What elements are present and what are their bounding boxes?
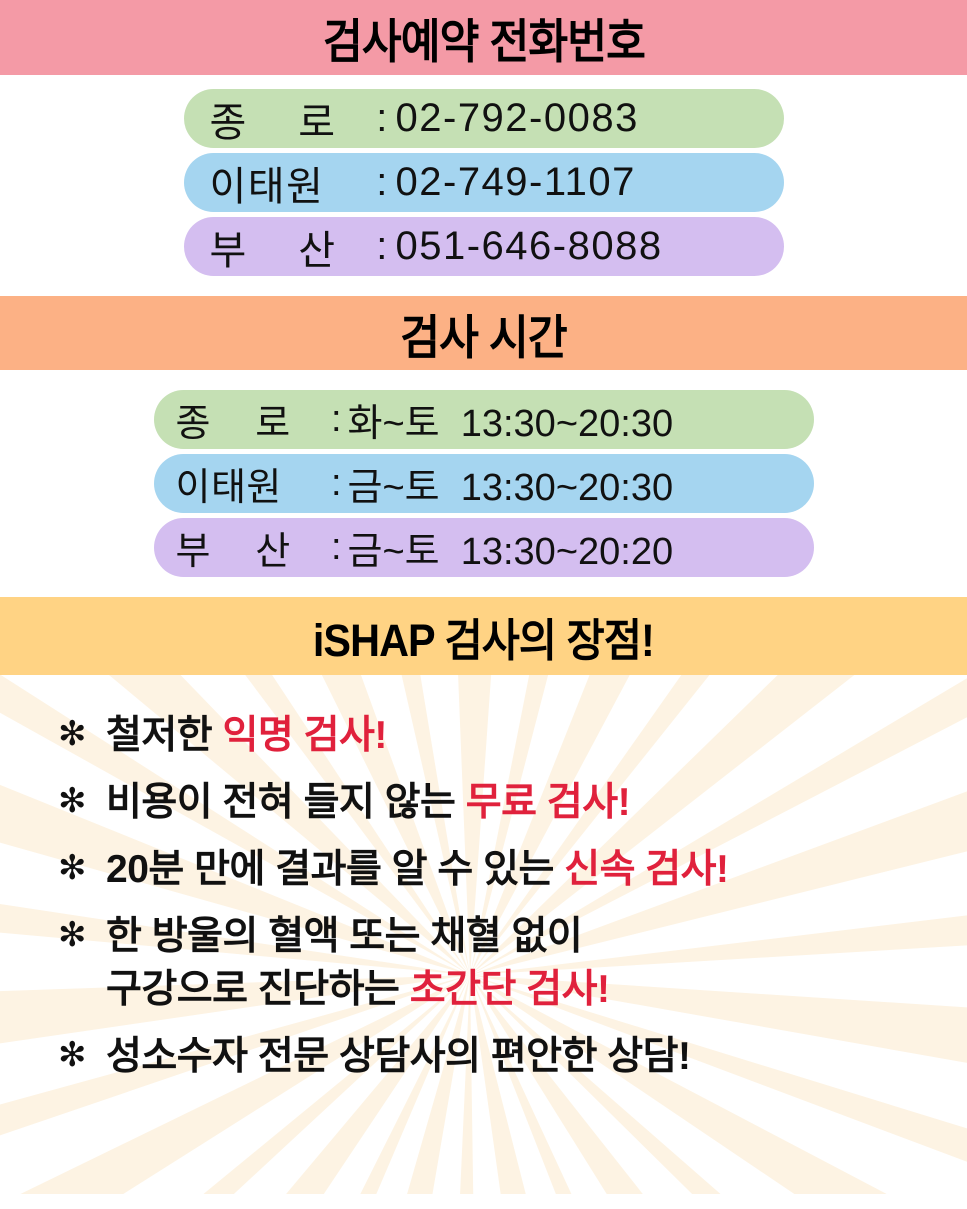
benefit-item-oral-swab: ✻ 한 방울의 혈액 또는 채혈 없이구강으로 진단하는 초간단 검사! bbox=[58, 910, 967, 1016]
benefits-area: ✻ 철저한 익명 검사! ✻ 비용이 전혀 들지 않는 무료 검사! ✻ 20분… bbox=[0, 675, 967, 1194]
time-row-separator: : bbox=[326, 398, 348, 441]
phone-header-title: 검사예약 전화번호 bbox=[322, 3, 644, 72]
poster-root: 검사예약 전화번호 종 로 : 02-792-0083 이태원 : 02-749… bbox=[0, 0, 967, 1209]
spacer-after-time-band bbox=[0, 370, 967, 390]
phone-row-separator: : bbox=[370, 160, 396, 205]
operating-hours-list: 종 로 : 화~토 13:30~20:30 이태원 : 금~토 13:30~20… bbox=[0, 390, 967, 577]
phone-row-label: 이태원 bbox=[210, 154, 370, 212]
benefit-text: 성소수자 전문 상담사의 편안한 상담! bbox=[106, 1030, 691, 1083]
benefit-plain: 한 방울의 혈액 또는 채혈 없이 bbox=[106, 915, 582, 958]
spacer-after-phone-band bbox=[0, 75, 967, 89]
phone-header-band: 검사예약 전화번호 bbox=[0, 0, 967, 75]
asterisk-bullet-icon: ✻ bbox=[58, 910, 84, 960]
benefit-plain: 20분 만에 결과를 알 수 있는 bbox=[106, 848, 564, 891]
benefit-plain: 성소수자 전문 상담사의 편안한 상담! bbox=[106, 1035, 691, 1078]
time-header-band: 검사 시간 bbox=[0, 296, 967, 370]
time-row-busan: 부 산 : 금~토 13:30~20:20 bbox=[154, 518, 814, 577]
benefit-item-free: ✻ 비용이 전혀 들지 않는 무료 검사! bbox=[58, 776, 967, 829]
benefits-list: ✻ 철저한 익명 검사! ✻ 비용이 전혀 들지 않는 무료 검사! ✻ 20분… bbox=[0, 675, 967, 1083]
phone-row-value: 051-646-8088 bbox=[396, 224, 663, 269]
time-row-value: 화~토 13:30~20:30 bbox=[348, 392, 674, 447]
benefit-text: 20분 만에 결과를 알 수 있는 신속 검사! bbox=[106, 843, 729, 896]
benefit-text: 한 방울의 혈액 또는 채혈 없이구강으로 진단하는 초간단 검사! bbox=[106, 910, 609, 1016]
benefit-second-line: 구강으로 진단하는 초간단 검사! bbox=[106, 963, 609, 1016]
phone-row-label: 종 로 bbox=[210, 90, 370, 148]
benefit-highlight: 신속 검사! bbox=[564, 848, 728, 891]
benefit-plain-2: 구강으로 진단하는 bbox=[106, 968, 410, 1011]
benefit-highlight: 무료 검사! bbox=[466, 781, 630, 824]
phone-row-separator: : bbox=[370, 96, 396, 141]
time-row-itaewon: 이태원 : 금~토 13:30~20:30 bbox=[154, 454, 814, 513]
phone-row-itaewon: 이태원 : 02-749-1107 bbox=[184, 153, 784, 212]
benefit-text: 비용이 전혀 들지 않는 무료 검사! bbox=[106, 776, 630, 829]
benefit-text: 철저한 익명 검사! bbox=[106, 709, 387, 762]
phone-row-busan: 부 산 : 051-646-8088 bbox=[184, 217, 784, 276]
benefit-highlight-2: 초간단 검사! bbox=[410, 968, 610, 1011]
spacer-after-phone-list bbox=[0, 276, 967, 296]
asterisk-bullet-icon: ✻ bbox=[58, 776, 84, 826]
asterisk-bullet-icon: ✻ bbox=[58, 709, 84, 759]
time-header-title: 검사 시간 bbox=[400, 299, 567, 368]
time-row-label: 종 로 bbox=[176, 392, 326, 447]
benefit-plain: 철저한 bbox=[106, 714, 222, 757]
phone-row-jongno: 종 로 : 02-792-0083 bbox=[184, 89, 784, 148]
benefits-header-band: iSHAP 검사의 장점! bbox=[0, 597, 967, 675]
phone-row-separator: : bbox=[370, 224, 396, 269]
time-row-value: 금~토 13:30~20:20 bbox=[348, 520, 674, 575]
benefit-highlight: 익명 검사! bbox=[222, 714, 386, 757]
asterisk-bullet-icon: ✻ bbox=[58, 843, 84, 893]
time-row-jongno: 종 로 : 화~토 13:30~20:30 bbox=[154, 390, 814, 449]
time-row-label: 이태원 bbox=[176, 456, 326, 511]
time-row-label: 부 산 bbox=[176, 520, 326, 575]
asterisk-bullet-icon: ✻ bbox=[58, 1030, 84, 1080]
time-row-separator: : bbox=[326, 526, 348, 569]
time-row-separator: : bbox=[326, 462, 348, 505]
phone-row-label: 부 산 bbox=[210, 218, 370, 276]
benefit-plain: 비용이 전혀 들지 않는 bbox=[106, 781, 466, 824]
phone-number-list: 종 로 : 02-792-0083 이태원 : 02-749-1107 부 산 … bbox=[0, 89, 967, 276]
time-row-value: 금~토 13:30~20:30 bbox=[348, 456, 674, 511]
benefits-header-title: iSHAP 검사의 장점! bbox=[313, 604, 654, 669]
benefit-item-rapid: ✻ 20분 만에 결과를 알 수 있는 신속 검사! bbox=[58, 843, 967, 896]
benefit-item-counseling: ✻ 성소수자 전문 상담사의 편안한 상담! bbox=[58, 1030, 967, 1083]
benefit-item-anonymous: ✻ 철저한 익명 검사! bbox=[58, 709, 967, 762]
spacer-after-time-list bbox=[0, 577, 967, 597]
phone-row-value: 02-749-1107 bbox=[396, 160, 636, 205]
phone-row-value: 02-792-0083 bbox=[396, 96, 639, 141]
